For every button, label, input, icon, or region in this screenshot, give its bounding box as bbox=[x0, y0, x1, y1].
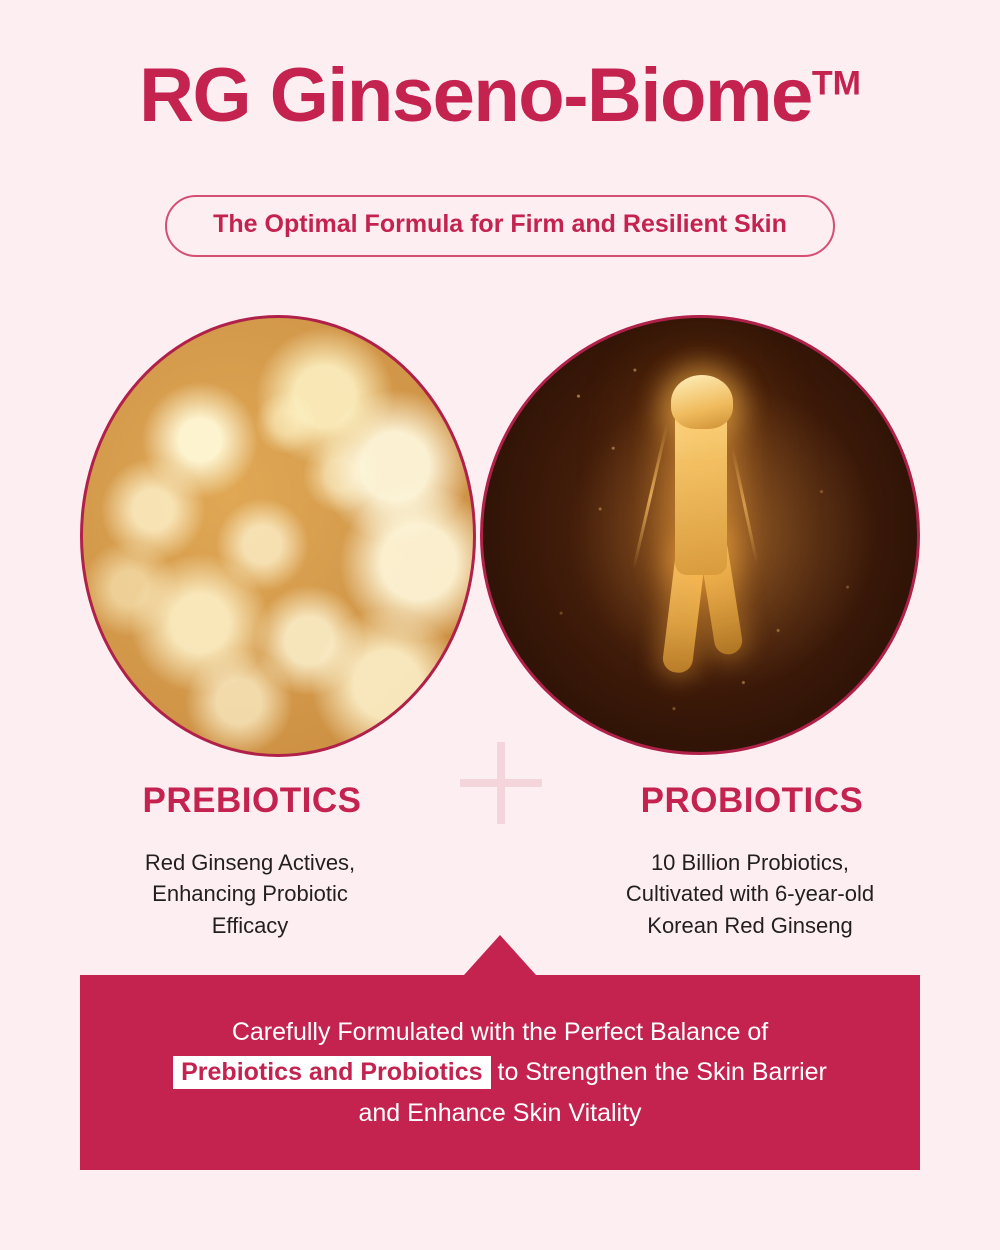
banner-line-2-rest: to Strengthen the Skin Barrier bbox=[498, 1058, 827, 1086]
description-line: Efficacy bbox=[0, 910, 500, 942]
column-probiotics-label: PROBIOTICS bbox=[500, 782, 1000, 821]
description-line: Enhancing Probiotic bbox=[0, 878, 500, 910]
subtitle-pill: The Optimal Formula for Firm and Resilie… bbox=[165, 195, 835, 257]
plus-icon bbox=[460, 742, 542, 824]
page-title: RG Ginseno-BiomeTM bbox=[139, 58, 861, 134]
column-prebiotics: PREBIOTICS Red Ginseng Actives, Enhancin… bbox=[0, 782, 500, 942]
root-head bbox=[671, 375, 733, 429]
column-prebiotics-description: Red Ginseng Actives, Enhancing Probiotic… bbox=[0, 847, 500, 943]
bottom-banner-text: Carefully Formulated with the Perfect Ba… bbox=[80, 975, 920, 1170]
description-line: Cultivated with 6-year-old bbox=[500, 878, 1000, 910]
column-probiotics-description: 10 Billion Probiotics, Cultivated with 6… bbox=[500, 847, 1000, 943]
description-line: Korean Red Ginseng bbox=[500, 910, 1000, 942]
prebiotics-bubbles-photo bbox=[80, 315, 476, 757]
header: RG Ginseno-BiomeTM bbox=[0, 58, 1000, 134]
column-probiotics: PROBIOTICS 10 Billion Probiotics, Cultiv… bbox=[500, 782, 1000, 942]
bottom-banner: Carefully Formulated with the Perfect Ba… bbox=[80, 975, 920, 1170]
column-prebiotics-label: PREBIOTICS bbox=[0, 782, 500, 821]
banner-line-1: Carefully Formulated with the Perfect Ba… bbox=[232, 1012, 768, 1053]
description-line: 10 Billion Probiotics, bbox=[500, 847, 1000, 879]
ginseng-root-shape bbox=[625, 385, 775, 685]
page-title-text: RG Ginseno-Biome bbox=[139, 53, 812, 138]
banner-line-3: and Enhance Skin Vitality bbox=[358, 1093, 641, 1134]
plus-icon-vertical-bar bbox=[497, 742, 505, 824]
banner-highlight: Prebiotics and Probiotics bbox=[173, 1056, 490, 1089]
root-tendril-left-icon bbox=[632, 423, 669, 570]
trademark-symbol: TM bbox=[812, 65, 861, 103]
banner-notch-arrow-icon bbox=[464, 935, 536, 975]
description-line: Red Ginseng Actives, bbox=[0, 847, 500, 879]
ginseng-root-photo bbox=[480, 315, 920, 755]
banner-line-2: Prebiotics and Probiotics to Strengthen … bbox=[173, 1052, 827, 1093]
subtitle-container: The Optimal Formula for Firm and Resilie… bbox=[0, 195, 1000, 257]
marketing-infographic: RG Ginseno-BiomeTM The Optimal Formula f… bbox=[0, 0, 1000, 1250]
root-tendril-right-icon bbox=[731, 446, 759, 564]
